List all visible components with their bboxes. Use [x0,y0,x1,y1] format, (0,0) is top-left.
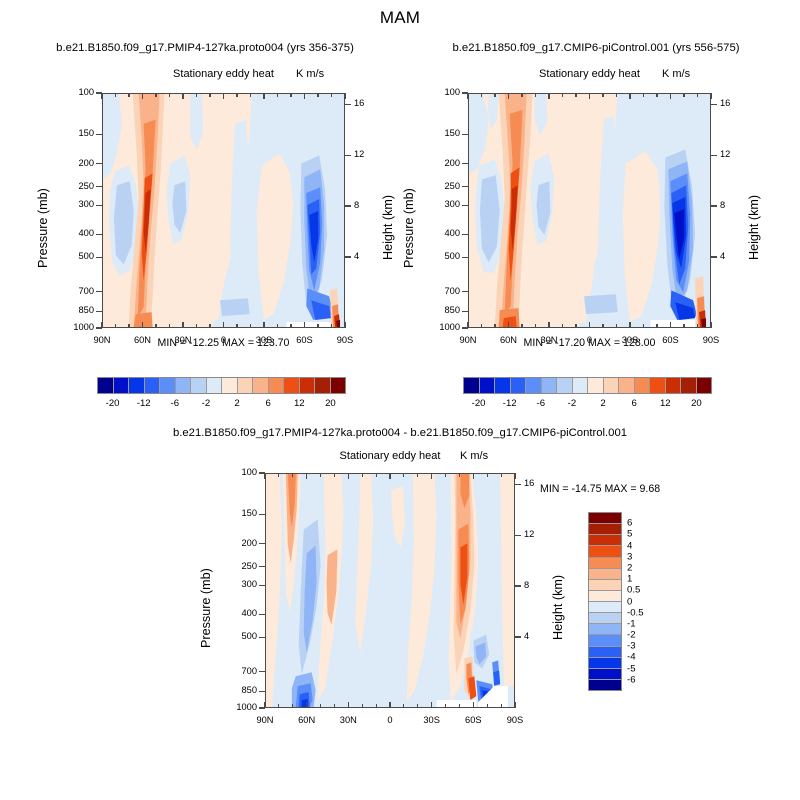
colorbar-cell-left[interactable] [160,378,176,393]
colorbar-cell-left[interactable] [222,378,238,393]
y-tick-label-diff: 1000 [221,702,257,712]
x-minor-tick-right [602,324,603,328]
y-tick-label-right: 700 [424,286,460,296]
x-minor-tick-right [697,324,698,328]
colorbar-cell-left[interactable] [269,378,285,393]
colorbar-cell-left[interactable] [114,378,130,393]
x-minor-tick-left [115,93,116,97]
x-minor-tick-diff [417,704,418,708]
contour-plot-left[interactable] [102,93,345,328]
colorbar-tick-label-left: -6 [171,398,180,409]
contour-plot-diff[interactable] [265,473,515,708]
x-minor-tick-diff [292,704,293,708]
y-tick-diff [259,691,265,692]
x-minor-tick-diff [459,473,460,477]
x-tick-left [304,93,305,99]
colorbar-left-labels: -20-12-6-2261220 [97,398,346,412]
y-tick-diff [259,585,265,586]
x-minor-tick-left [250,324,251,328]
colorbar-tick-label-right: -6 [537,398,546,409]
y-tick-label-right: 250 [424,181,460,191]
y-tick-diff [259,566,265,567]
colorbar-cell-left[interactable] [98,378,114,393]
y2-tick-label-diff: 16 [524,478,548,488]
y2-tick-label-diff: 4 [524,631,548,641]
x-minor-tick-right [481,93,482,97]
x-minor-tick-left [290,93,291,97]
x-tick-label-right: 60S [651,335,691,345]
colorbar-cell-diff[interactable] [589,524,621,535]
x-tick-right [589,93,590,99]
x-minor-tick-diff [403,704,404,708]
x-tick-label-left: 90S [325,335,365,345]
colorbar-cell-right[interactable] [650,378,666,393]
colorbar-cell-diff[interactable] [589,580,621,591]
colorbar-right-labels: -20-12-6-2261220 [463,398,712,412]
colorbar-tick-label-left: 6 [266,398,271,409]
colorbar-cell-left[interactable] [284,378,300,393]
x-minor-tick-right [494,93,495,97]
colorbar-tick-label-diff: -4 [627,652,636,663]
colorbar-cell-diff[interactable] [589,546,621,557]
y-tick-label-left: 700 [58,286,94,296]
x-minor-tick-diff [459,704,460,708]
x-tick-left [344,93,345,99]
y-tick-label-right: 100 [424,87,460,97]
colorbar-tick-label-diff: -1 [627,618,636,629]
x-minor-tick-diff [417,473,418,477]
colorbar-cell-diff[interactable] [589,624,621,635]
y-tick-diff [259,671,265,672]
x-tick-label-diff: 90S [495,715,535,725]
x-tick-right [467,93,468,99]
x-tick-label-right: 0 [570,335,610,345]
x-tick-label-left: 90N [82,335,122,345]
x-minor-tick-left [331,93,332,97]
x-tick-diff [431,473,432,479]
y-tick-diff [259,637,265,638]
y-tick-label-left: 100 [58,87,94,97]
colorbar-tick-label-right: 2 [600,398,605,409]
colorbar-cell-left[interactable] [315,378,331,393]
y-tick-label-right: 500 [424,251,460,261]
contour-canvas-right [469,94,710,327]
y-tick-left [96,205,102,206]
y-tick-label-left: 1000 [58,322,94,332]
x-minor-tick-left [317,93,318,97]
colorbar-cell-diff[interactable] [589,669,621,680]
x-minor-tick-left [236,93,237,97]
colorbar-tick-label-left: 12 [294,398,305,409]
x-tick-left [142,93,143,99]
colorbar-tick-label-right: -2 [568,398,577,409]
x-minor-tick-left [277,93,278,97]
y2-tick-right [711,155,717,156]
colorbar-cell-diff[interactable] [589,591,621,602]
x-minor-tick-right [575,324,576,328]
y-tick-right [462,234,468,235]
y2-tick-label-right: 8 [720,200,744,210]
x-minor-tick-left [236,324,237,328]
x-minor-tick-right [481,324,482,328]
x-tick-left [182,322,183,328]
colorbar-cell-right[interactable] [635,378,651,393]
x-tick-label-left: 60S [285,335,325,345]
x-minor-tick-diff [362,704,363,708]
x-minor-tick-right [683,324,684,328]
colorbar-cell-diff[interactable] [589,658,621,669]
x-tick-left [101,322,102,328]
y2-tick-label-left: 16 [354,98,378,108]
y-tick-label-left: 150 [58,128,94,138]
colorbar-tick-label-left: 2 [234,398,239,409]
colorbar-cell-left[interactable] [238,378,254,393]
y-tick-label-diff: 200 [221,538,257,548]
x-minor-tick-right [494,324,495,328]
y2-tick-label-right: 16 [720,98,744,108]
colorbar-cell-right[interactable] [619,378,635,393]
colorbar-cell-left[interactable] [129,378,145,393]
colorbar-tick-label-diff: 1 [627,574,632,585]
colorbar-tick-label-right: -20 [472,398,486,409]
x-tick-label-right: 60N [489,335,529,345]
y-tick-left [96,186,102,187]
y-tick-label-right: 850 [424,305,460,315]
x-minor-tick-right [521,324,522,328]
y2-tick-left [345,256,351,257]
x-tick-diff [473,473,474,479]
contour-plot-right[interactable] [468,93,711,328]
x-minor-tick-left [155,324,156,328]
x-tick-right [710,322,711,328]
x-tick-right [710,93,711,99]
colorbar-cell-diff[interactable] [589,558,621,569]
y-tick-label-diff: 700 [221,666,257,676]
x-minor-tick-left [196,324,197,328]
x-tick-diff [514,473,515,479]
y2-tick-left [345,155,351,156]
x-minor-tick-diff [320,704,321,708]
x-minor-tick-right [521,93,522,97]
colorbar-cell-left[interactable] [145,378,161,393]
colorbar-cell-right[interactable] [588,378,604,393]
colorbar-tick-label-left: 20 [325,398,336,409]
y-tick-right [462,163,468,164]
x-tick-label-left: 60N [123,335,163,345]
y-tick-right [462,291,468,292]
panel-title-right: b.e21.B1850.f09_g17.CMIP6-piControl.001 … [398,42,794,54]
y-tick-right [462,205,468,206]
x-minor-tick-right [562,324,563,328]
x-minor-tick-diff [292,473,293,477]
panel-right-units: K m/s [662,68,690,80]
colorbar-cell-diff[interactable] [589,513,621,524]
x-tick-label-diff: 30S [412,715,452,725]
colorbar-diff[interactable] [588,512,622,691]
y2-tick-left [345,104,351,105]
y2-tick-label-right: 12 [720,149,744,159]
colorbar-cell-right[interactable] [604,378,620,393]
colorbar-cell-right[interactable] [573,378,589,393]
x-minor-tick-left [209,93,210,97]
x-tick-left [344,322,345,328]
colorbar-cell-left[interactable] [191,378,207,393]
minmax-diff: MIN = -14.75 MAX = 9.68 [540,483,720,495]
y-tick-label-left: 250 [58,181,94,191]
x-minor-tick-left [115,324,116,328]
y-tick-diff [259,514,265,515]
x-minor-tick-left [169,324,170,328]
y2-tick-left [345,205,351,206]
colorbar-cell-left[interactable] [176,378,192,393]
x-tick-diff [306,473,307,479]
y2-tick-diff [515,535,521,536]
x-minor-tick-right [697,93,698,97]
x-minor-tick-diff [376,704,377,708]
page-title: MAM [0,8,800,28]
y-tick-label-left: 500 [58,251,94,261]
x-tick-right [670,93,671,99]
colorbar-cell-diff[interactable] [589,602,621,613]
x-tick-label-right: 90N [448,335,488,345]
x-minor-tick-right [643,93,644,97]
x-minor-tick-left [169,93,170,97]
y-tick-label-left: 200 [58,158,94,168]
y2-tick-label-left: 4 [354,251,378,261]
x-tick-label-diff: 60S [453,715,493,725]
x-minor-tick-left [290,324,291,328]
colorbar-cell-right[interactable] [495,378,511,393]
y-axis-label-right: Pressure (mb) [402,188,416,268]
x-tick-label-right: 30N [529,335,569,345]
x-tick-left [263,93,264,99]
x-minor-tick-diff [334,704,335,708]
y-tick-left [96,257,102,258]
x-minor-tick-diff [501,473,502,477]
x-minor-tick-diff [376,473,377,477]
y2-tick-label-diff: 8 [524,580,548,590]
colorbar-tick-label-left: -20 [106,398,120,409]
x-minor-tick-left [250,93,251,97]
y-tick-right [462,134,468,135]
x-tick-right [548,322,549,328]
colorbar-cell-right[interactable] [511,378,527,393]
colorbar-diff-labels: 6543210.50-0.5-1-2-3-4-5-6 [627,512,667,691]
x-minor-tick-diff [334,473,335,477]
x-tick-right [508,322,509,328]
x-minor-tick-diff [278,473,279,477]
y2-tick-diff [515,484,521,485]
x-tick-diff [431,702,432,708]
y-tick-label-left: 300 [58,199,94,209]
y-tick-label-right: 400 [424,228,460,238]
x-tick-right [467,322,468,328]
y2-tick-label-right: 4 [720,251,744,261]
x-tick-label-right: 90S [691,335,731,345]
colorbar-tick-label-diff: 3 [627,551,632,562]
x-minor-tick-diff [501,704,502,708]
x-tick-label-right: 30S [610,335,650,345]
colorbar-left[interactable] [97,377,346,394]
x-tick-left [182,93,183,99]
x-tick-label-left: 0 [204,335,244,345]
y-tick-label-diff: 250 [221,561,257,571]
x-tick-right [508,93,509,99]
x-minor-tick-left [128,324,129,328]
x-minor-tick-right [562,93,563,97]
y2-tick-diff [515,585,521,586]
y-tick-label-right: 200 [424,158,460,168]
y-tick-left [96,291,102,292]
colorbar-tick-label-diff: 2 [627,562,632,573]
x-minor-tick-diff [445,704,446,708]
y-tick-left [96,163,102,164]
x-tick-right [589,322,590,328]
y2-tick-diff [515,636,521,637]
x-tick-right [629,322,630,328]
colorbar-tick-label-diff: -3 [627,641,636,652]
y-axis-label-left: Pressure (mb) [36,188,50,268]
colorbar-cell-right[interactable] [464,378,480,393]
y2-tick-right [711,205,717,206]
y2-tick-label-diff: 12 [524,529,548,539]
colorbar-cell-right[interactable] [480,378,496,393]
colorbar-cell-diff[interactable] [589,680,621,690]
colorbar-cell-diff[interactable] [589,613,621,624]
x-tick-left [304,322,305,328]
y-axis-label-diff: Pressure (mb) [199,568,213,648]
colorbar-tick-label-left: -12 [137,398,151,409]
y-tick-label-right: 150 [424,128,460,138]
colorbar-tick-label-diff: 5 [627,529,632,540]
x-minor-tick-right [616,324,617,328]
x-minor-tick-diff [445,473,446,477]
x-tick-left [263,322,264,328]
colorbar-cell-diff[interactable] [589,569,621,580]
y-tick-label-left: 400 [58,228,94,238]
colorbar-tick-label-diff: 6 [627,518,632,529]
y2-tick-right [711,256,717,257]
colorbar-tick-label-right: 6 [632,398,637,409]
colorbar-tick-label-right: 20 [691,398,702,409]
x-tick-diff [514,702,515,708]
colorbar-tick-label-left: -2 [202,398,211,409]
colorbar-cell-left[interactable] [207,378,223,393]
contour-canvas-left [103,94,344,327]
colorbar-cell-right[interactable] [681,378,697,393]
colorbar-cell-left[interactable] [253,378,269,393]
x-minor-tick-right [535,324,536,328]
colorbar-cell-left[interactable] [331,378,346,393]
x-minor-tick-diff [278,704,279,708]
x-minor-tick-diff [487,473,488,477]
colorbar-cell-right[interactable] [542,378,558,393]
x-minor-tick-right [683,93,684,97]
x-minor-tick-left [196,93,197,97]
y-tick-label-right: 1000 [424,322,460,332]
colorbar-right[interactable] [463,377,712,394]
colorbar-tick-label-diff: -0.5 [627,607,644,618]
y-tick-label-diff: 400 [221,608,257,618]
x-minor-tick-diff [320,473,321,477]
y2-tick-right [711,104,717,105]
colorbar-cell-right[interactable] [557,378,573,393]
y-tick-right [462,186,468,187]
y2-axis-label-diff: Height (km) [551,575,565,640]
x-minor-tick-right [656,324,657,328]
x-tick-diff [264,702,265,708]
x-tick-left [223,322,224,328]
x-tick-diff [389,473,390,479]
x-minor-tick-diff [487,704,488,708]
y-tick-label-diff: 300 [221,579,257,589]
x-tick-left [101,93,102,99]
colorbar-tick-label-diff: -2 [627,630,636,641]
x-minor-tick-right [616,93,617,97]
x-tick-label-left: 30N [163,335,203,345]
colorbar-tick-label-diff: 4 [627,540,632,551]
y-tick-label-right: 300 [424,199,460,209]
colorbar-cell-right[interactable] [697,378,712,393]
x-tick-right [670,322,671,328]
y-tick-left [96,311,102,312]
colorbar-cell-diff[interactable] [589,647,621,658]
y-tick-diff [259,614,265,615]
x-minor-tick-diff [403,473,404,477]
colorbar-tick-label-diff: 0 [627,596,632,607]
y-tick-diff [259,543,265,544]
x-tick-label-left: 30S [244,335,284,345]
colorbar-tick-label-right: 12 [660,398,671,409]
x-minor-tick-right [535,93,536,97]
x-minor-tick-diff [362,473,363,477]
panel-left-units: K m/s [296,68,324,80]
colorbar-cell-right[interactable] [526,378,542,393]
x-tick-right [629,93,630,99]
x-minor-tick-left [209,324,210,328]
x-tick-label-diff: 90N [245,715,285,725]
contour-canvas-diff [266,474,514,707]
colorbar-tick-label-right: -12 [503,398,517,409]
x-tick-diff [264,473,265,479]
x-tick-diff [389,702,390,708]
x-minor-tick-left [277,324,278,328]
y-tick-label-diff: 850 [221,685,257,695]
y-tick-right [462,311,468,312]
x-minor-tick-right [602,93,603,97]
x-tick-diff [348,473,349,479]
x-minor-tick-left [155,93,156,97]
colorbar-tick-label-diff: -6 [627,674,636,685]
x-minor-tick-right [643,324,644,328]
colorbar-cell-diff[interactable] [589,635,621,646]
y2-axis-label-left: Height (km) [381,195,395,260]
colorbar-cell-right[interactable] [666,378,682,393]
y-tick-label-diff: 150 [221,508,257,518]
y-tick-label-left: 850 [58,305,94,315]
y-tick-right [462,257,468,258]
x-tick-diff [306,702,307,708]
x-tick-diff [473,702,474,708]
x-tick-left [223,93,224,99]
colorbar-cell-left[interactable] [300,378,316,393]
y2-axis-label-right: Height (km) [747,195,761,260]
y2-tick-label-left: 8 [354,200,378,210]
colorbar-cell-diff[interactable] [589,535,621,546]
colorbar-tick-label-diff: 0.5 [627,585,640,596]
x-tick-left [142,322,143,328]
x-tick-right [548,93,549,99]
